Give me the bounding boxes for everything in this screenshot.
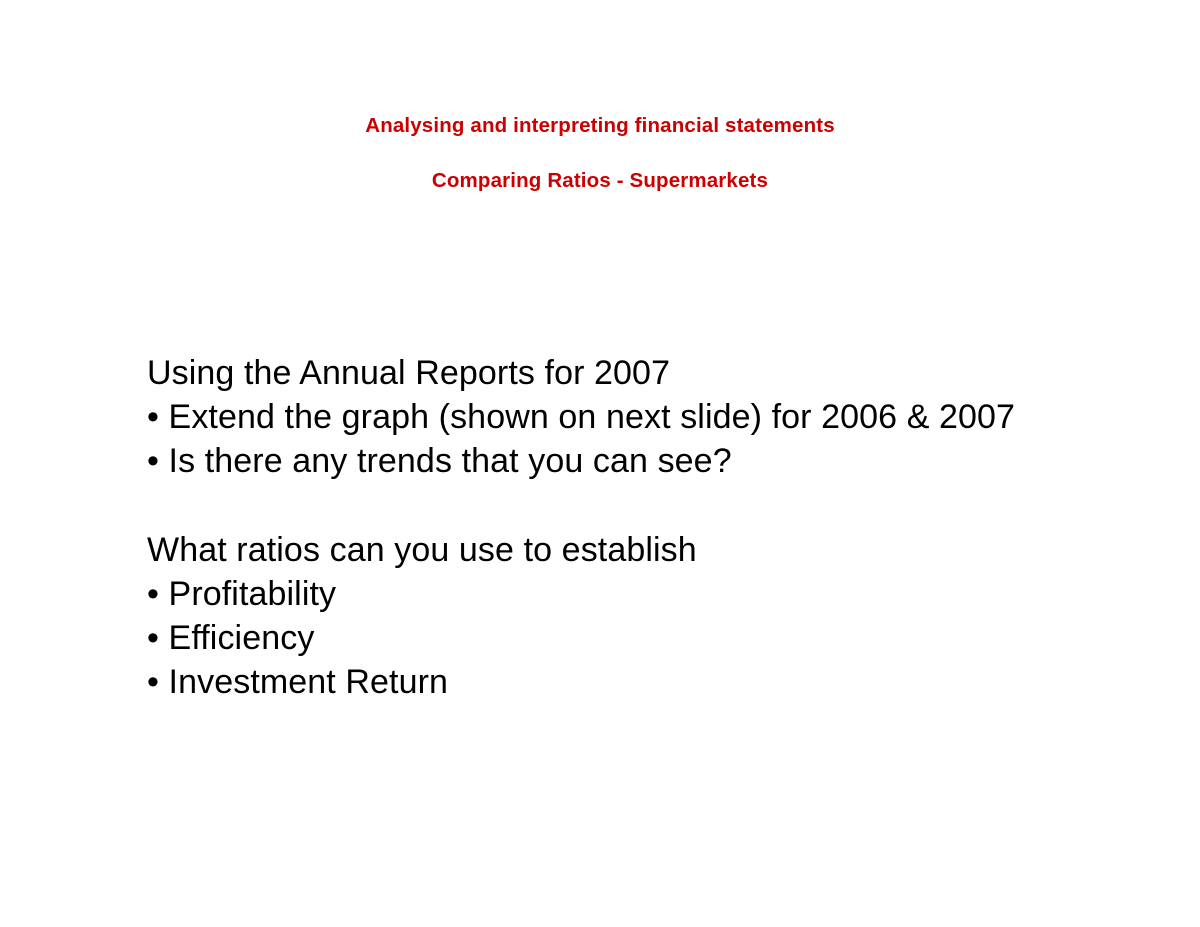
body-lead-line-two: What ratios can you use to establish [147, 528, 1147, 572]
body-bullet-investment-return: • Investment Return [147, 660, 1147, 704]
body-bullet-extend-graph: • Extend the graph (shown on next slide)… [147, 395, 1147, 439]
slide-body-block: Using the Annual Reports for 2007 • Exte… [147, 351, 1147, 705]
presentation-slide: Analysing and interpreting financial sta… [0, 0, 1200, 927]
body-bullet-profitability: • Profitability [147, 572, 1147, 616]
slide-title: Analysing and interpreting financial sta… [0, 112, 1200, 139]
body-lead-line-one: Using the Annual Reports for 2007 [147, 351, 1147, 395]
body-bullet-efficiency: • Efficiency [147, 616, 1147, 660]
slide-subtitle: Comparing Ratios - Supermarkets [0, 167, 1200, 194]
slide-heading-block: Analysing and interpreting financial sta… [0, 112, 1200, 194]
body-bullet-trends: • Is there any trends that you can see? [147, 439, 1147, 483]
